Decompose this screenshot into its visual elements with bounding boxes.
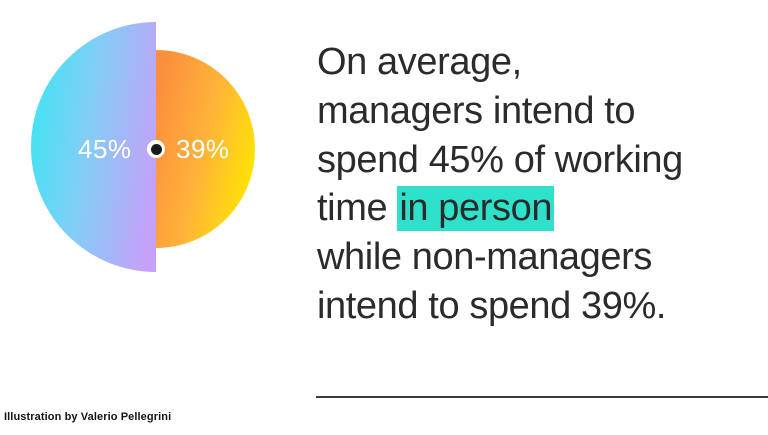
callout-line-6: intend to spend 39%. bbox=[317, 282, 768, 331]
callout-line-4: time in person bbox=[317, 184, 768, 233]
illustration-credit: Illustration by Valerio Pellegrini bbox=[4, 411, 171, 423]
callout-line-5: while non-managers bbox=[317, 233, 768, 282]
split-circle-illustration: 45% 39% bbox=[0, 0, 300, 300]
bottom-divider bbox=[316, 396, 768, 398]
pie-label-non-managers: 39% bbox=[176, 136, 230, 162]
callout-line-3: spend 45% of working bbox=[317, 136, 768, 185]
callout-line-4-prefix: time bbox=[317, 187, 397, 229]
callout-highlight: in person bbox=[397, 186, 554, 231]
callout-line-1: On average, bbox=[317, 38, 768, 87]
pie-label-managers: 45% bbox=[78, 136, 132, 162]
callout-line-2: managers intend to bbox=[317, 87, 768, 136]
callout-text: On average, managers intend to spend 45%… bbox=[317, 38, 768, 331]
center-dot-icon bbox=[147, 140, 165, 158]
